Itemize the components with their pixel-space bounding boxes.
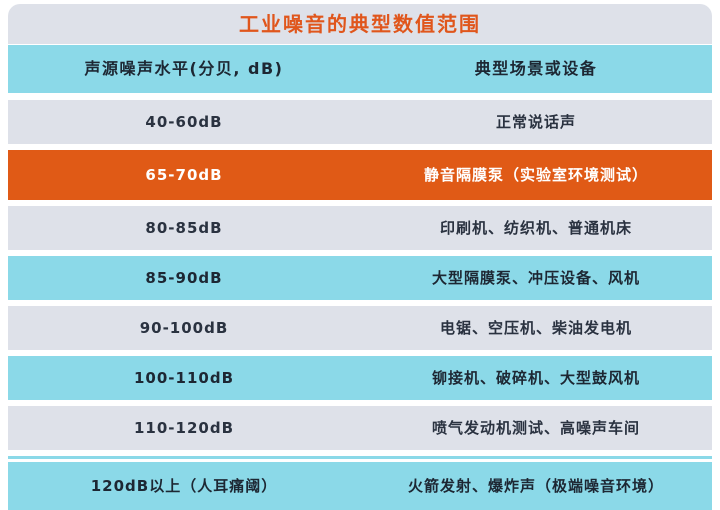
cell-noise-level: 40-60dB xyxy=(8,100,360,144)
cell-noise-level: 110-120dB xyxy=(8,406,360,450)
table-row: 120dB以上（人耳痛阈） 火箭发射、爆炸声（极端噪音环境） xyxy=(8,462,712,510)
cell-noise-level: 65-70dB xyxy=(8,150,360,200)
cell-noise-level: 80-85dB xyxy=(8,206,360,250)
table-row: 85-90dB 大型隔膜泵、冲压设备、风机 xyxy=(8,256,712,300)
cell-noise-level: 120dB以上（人耳痛阈） xyxy=(8,462,360,510)
table-header-row: 声源噪声水平(分贝, dB) 典型场景或设备 xyxy=(8,45,712,93)
row-divider-strip xyxy=(8,456,712,459)
table-row-highlighted: 65-70dB 静音隔膜泵（实验室环境测试） xyxy=(8,150,712,200)
cell-scene: 喷气发动机测试、高噪声车间 xyxy=(360,406,712,450)
cell-noise-level: 90-100dB xyxy=(8,306,360,350)
cell-noise-level: 100-110dB xyxy=(8,356,360,400)
cell-scene: 正常说话声 xyxy=(360,100,712,144)
page-title: 工业噪音的典型数值范围 xyxy=(239,14,481,34)
cell-scene: 火箭发射、爆炸声（极端噪音环境） xyxy=(360,462,712,510)
column-header-scene: 典型场景或设备 xyxy=(360,45,712,93)
cell-scene: 印刷机、纺织机、普通机床 xyxy=(360,206,712,250)
cell-scene: 电锯、空压机、柴油发电机 xyxy=(360,306,712,350)
table-row: 90-100dB 电锯、空压机、柴油发电机 xyxy=(8,306,712,350)
noise-level-table: 工业噪音的典型数值范围 声源噪声水平(分贝, dB) 典型场景或设备 40-60… xyxy=(0,0,720,510)
table-title-bar: 工业噪音的典型数值范围 xyxy=(8,4,712,44)
column-header-noise-level: 声源噪声水平(分贝, dB) xyxy=(8,45,360,93)
table-row: 110-120dB 喷气发动机测试、高噪声车间 xyxy=(8,406,712,450)
table-row: 40-60dB 正常说话声 xyxy=(8,100,712,144)
cell-scene: 静音隔膜泵（实验室环境测试） xyxy=(360,150,712,200)
table-row: 80-85dB 印刷机、纺织机、普通机床 xyxy=(8,206,712,250)
cell-noise-level: 85-90dB xyxy=(8,256,360,300)
cell-scene: 大型隔膜泵、冲压设备、风机 xyxy=(360,256,712,300)
cell-scene: 铆接机、破碎机、大型鼓风机 xyxy=(360,356,712,400)
table-row: 100-110dB 铆接机、破碎机、大型鼓风机 xyxy=(8,356,712,400)
